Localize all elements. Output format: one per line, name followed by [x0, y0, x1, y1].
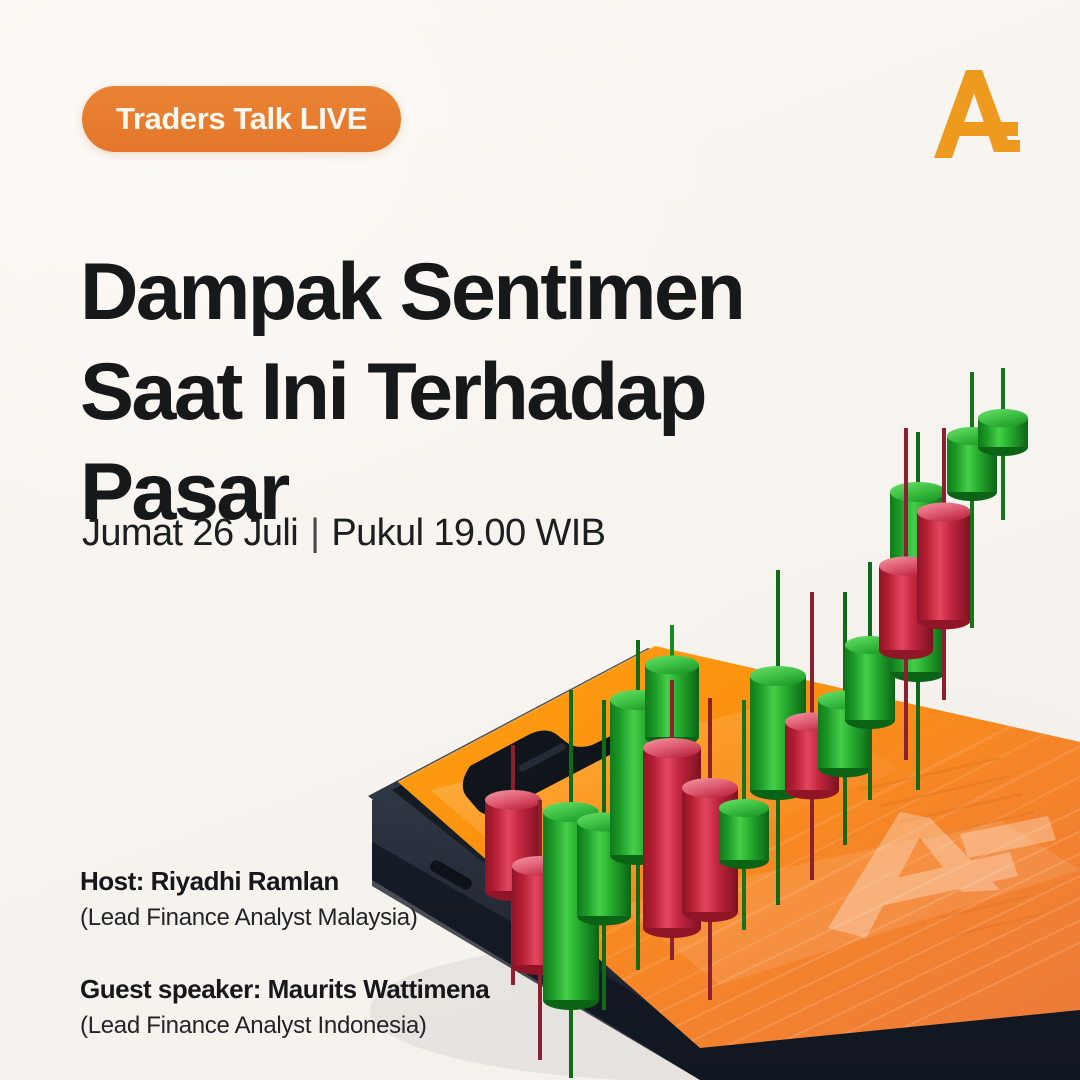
guest-credit: Guest speaker: Maurits Wattimena (Lead F…	[80, 974, 489, 1040]
candle-1	[485, 745, 541, 985]
schedule-separator: |	[310, 512, 319, 555]
candle-9	[719, 700, 769, 930]
poster-canvas: Traders Talk LIVE Dampak Sentimen Saat I…	[0, 0, 1080, 1080]
candle-5	[610, 640, 666, 970]
guest-name: Guest speaker: Maurits Wattimena	[80, 974, 489, 1005]
guest-role: (Lead Finance Analyst Indonesia)	[80, 1012, 489, 1040]
host-credit: Host: Riyadhi Ramlan (Lead Finance Analy…	[80, 866, 489, 932]
candle-12	[818, 592, 872, 845]
host-role: (Lead Finance Analyst Malaysia)	[80, 904, 489, 932]
candle-17	[947, 372, 997, 628]
live-badge-label: Traders Talk LIVE	[116, 101, 367, 137]
candle-4	[577, 700, 631, 1010]
speaker-credits: Host: Riyadhi Ramlan (Lead Finance Analy…	[80, 866, 489, 1040]
candle-7	[643, 680, 701, 960]
candle-15	[879, 428, 933, 760]
candle-13	[845, 562, 895, 800]
candle-10	[750, 570, 806, 905]
candle-16	[917, 428, 971, 700]
headline-line-2: Saat Ini Terhadap	[80, 342, 860, 442]
screen-watermark-logo	[828, 812, 1056, 938]
letter-a-logo	[928, 64, 1024, 164]
candle-2	[512, 800, 568, 1060]
candle-6	[645, 625, 699, 878]
live-badge[interactable]: Traders Talk LIVE	[82, 86, 401, 152]
headline-line-1: Dampak Sentimen	[80, 242, 860, 342]
event-date: Jumat 26 Juli	[82, 512, 298, 555]
candle-11	[785, 592, 839, 880]
candle-14	[890, 432, 946, 790]
candle-18	[978, 368, 1028, 520]
candle-3	[543, 690, 599, 1078]
candle-8	[682, 698, 738, 1000]
host-name: Host: Riyadhi Ramlan	[80, 866, 489, 897]
page-title: Dampak Sentimen Saat Ini Terhadap Pasar	[80, 242, 860, 542]
event-schedule: Jumat 26 Juli | Pukul 19.00 WIB	[82, 512, 605, 555]
event-time: Pukul 19.00 WIB	[331, 512, 605, 555]
